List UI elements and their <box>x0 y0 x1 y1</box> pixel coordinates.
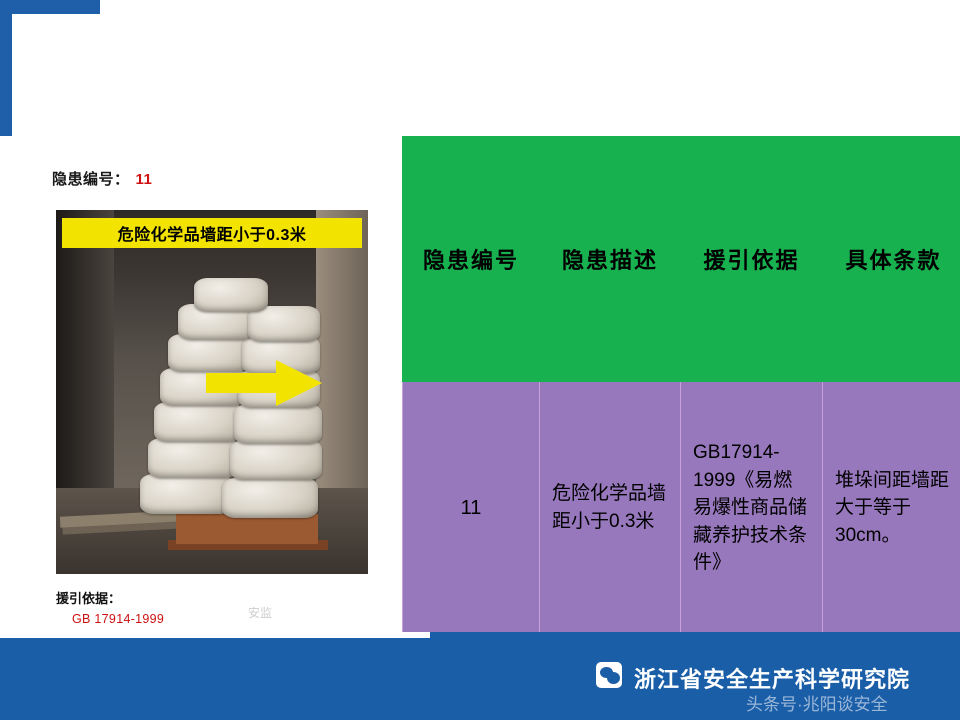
photo-bag <box>140 474 232 514</box>
table-cell-clause: 堆垛间距墙距大于等于30cm。 <box>823 382 960 635</box>
table-row: 11 危险化学品墙距小于0.3米 GB17914-1999《易燃易爆性商品储藏养… <box>403 382 960 635</box>
hazard-id-value: 11 <box>136 171 153 188</box>
table-cell-id: 11 <box>403 382 540 635</box>
photo-bag <box>154 402 242 442</box>
slide-root: 隐患编号：11 <box>0 0 960 720</box>
document-panel: 隐患编号：11 <box>12 136 402 632</box>
table-cell-basis: GB17914-1999《易燃易爆性商品储藏养护技术条件》 <box>681 382 823 635</box>
decor-band-left <box>0 0 12 136</box>
table-header-cell-clause: 具体条款 <box>823 137 960 382</box>
pointer-arrow-icon <box>206 360 324 404</box>
photo-bag <box>194 278 268 312</box>
photo-caption-bar: 危险化学品墙距小于0.3米 <box>62 218 362 248</box>
photo-caption-text: 危险化学品墙距小于0.3米 <box>118 221 307 245</box>
photo-pallet <box>176 514 318 544</box>
decor-band-top <box>12 0 100 14</box>
hazard-table: 隐患编号 隐患描述 援引依据 具体条款 11 危险化学品墙距小于0.3米 GB1… <box>402 136 960 635</box>
table-header-cell-basis: 援引依据 <box>681 137 823 382</box>
table-header-row: 隐患编号 隐患描述 援引依据 具体条款 <box>403 137 960 382</box>
wechat-icon <box>596 662 622 688</box>
table-cell-description: 危险化学品墙距小于0.3米 <box>540 382 681 635</box>
basis-label: 援引依据： <box>56 588 386 607</box>
photo-bag <box>222 478 318 518</box>
photo-bag <box>234 404 322 444</box>
hazard-id-label: 隐患编号： <box>52 171 130 188</box>
table-header-cell-desc: 隐患描述 <box>540 137 681 382</box>
footer-watermark: 头条号·兆阳谈安全 <box>746 690 888 715</box>
hazard-photo: 危险化学品墙距小于0.3米 <box>56 210 368 574</box>
basis-code: GB 17914-1999 <box>72 612 386 626</box>
document-watermark: 安监 <box>248 604 272 621</box>
photo-bag <box>148 438 238 478</box>
footer-band-white-strip <box>0 632 430 638</box>
hazard-id-line: 隐患编号：11 <box>52 168 152 189</box>
table-header-cell-id: 隐患编号 <box>403 137 540 382</box>
photo-bag <box>230 440 322 480</box>
